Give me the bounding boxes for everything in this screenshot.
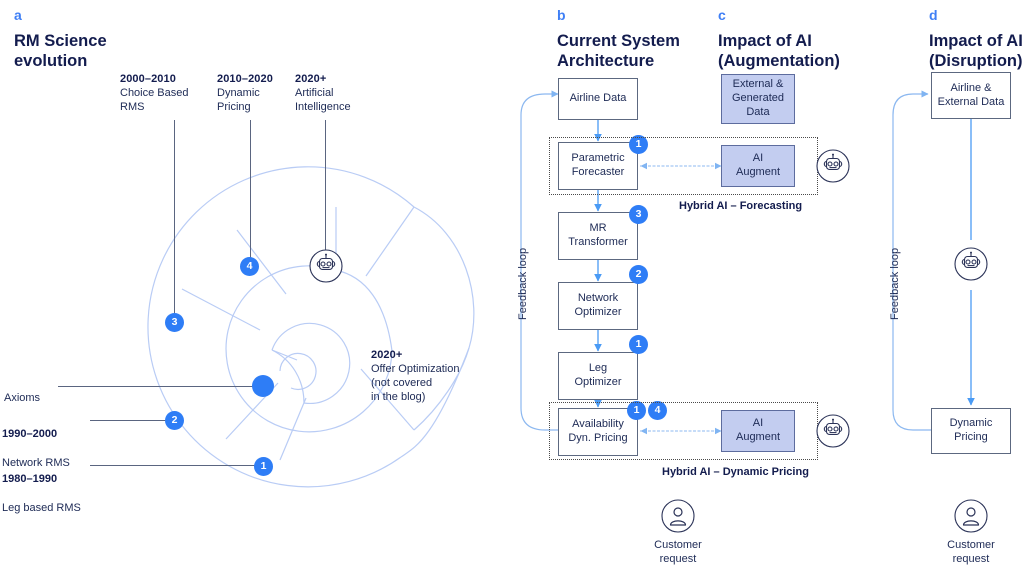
node-dynamic-pricing[interactable]: Dynamic Pricing	[931, 408, 1011, 454]
panel-impact-ai-disruption: d Impact of AI (Disruption) Feedback loo…	[0, 0, 1024, 573]
person-icon	[953, 498, 989, 534]
feedback-loop-label-d: Feedback loop	[889, 248, 901, 320]
flow-d-connectors	[0, 0, 1024, 573]
node-airline-external-data[interactable]: Airline & External Data	[931, 72, 1011, 119]
customer-request-label-d: Customer request	[931, 538, 1011, 567]
robot-icon	[953, 246, 989, 282]
